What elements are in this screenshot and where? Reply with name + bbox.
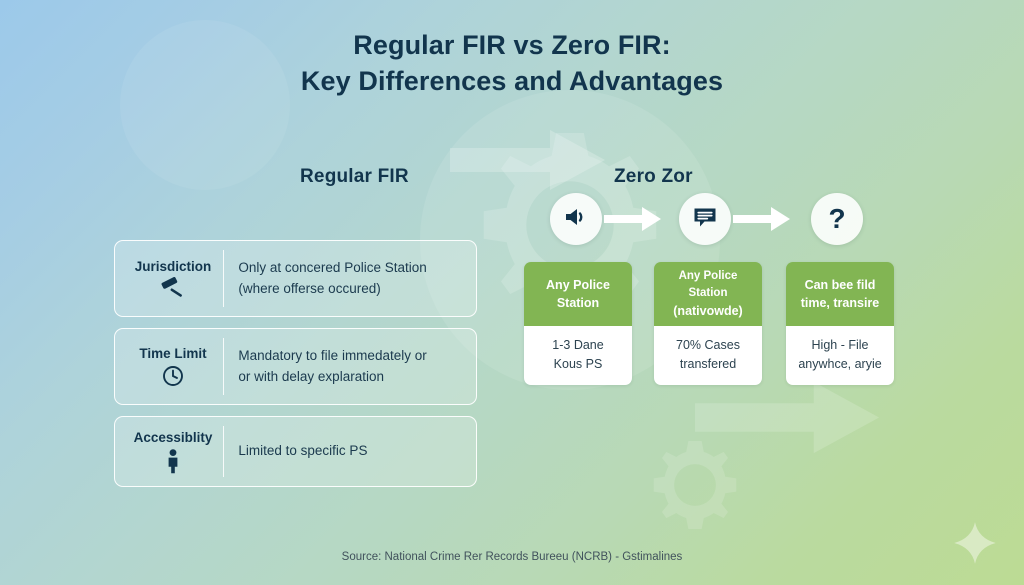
- page-title: Regular FIR vs Zero FIR: Key Differences…: [0, 28, 1024, 99]
- card-body: 70% Cases transfered: [654, 326, 762, 385]
- gear-watermark-small: [640, 430, 750, 540]
- row-description: Limited to specific PS: [224, 417, 476, 486]
- card-header-line-1: Can bee fild: [805, 276, 876, 294]
- card-body: 1-3 Dane Kous PS: [524, 326, 632, 385]
- flow-step-megaphone[interactable]: [550, 193, 602, 245]
- card-body-line-2: Kous PS: [554, 355, 603, 374]
- row-desc-line-1: Only at concered Police Station: [238, 258, 476, 279]
- card-header-line-2: Station: [557, 294, 599, 312]
- row-label: Time Limit: [139, 346, 206, 361]
- source-footnote: Source: National Crime Rer Records Buree…: [0, 551, 1024, 563]
- column-heading-zero-fir: Zero Zor: [614, 166, 693, 188]
- card-header-line-1: Any Police Station: [660, 268, 756, 301]
- comparison-row-jurisdiction[interactable]: Jurisdiction Only at concered Police Sta…: [114, 240, 477, 317]
- comparison-row-time-limit[interactable]: Time Limit Mandatory to file immedately …: [114, 328, 477, 405]
- chat-bubble-icon: [692, 205, 718, 234]
- row-label-group: Accessiblity: [115, 417, 223, 486]
- zero-fir-card-3[interactable]: Can bee fild time, transire High - File …: [786, 262, 894, 385]
- row-description: Mandatory to file immedately or or with …: [224, 329, 476, 404]
- row-label: Accessiblity: [134, 430, 213, 445]
- row-desc-line-2: (where offerse occured): [238, 279, 476, 300]
- card-body-line-1: 70% Cases: [676, 336, 740, 355]
- column-heading-regular-fir: Regular FIR: [300, 166, 409, 188]
- row-label-group: Time Limit: [115, 329, 223, 404]
- row-desc-line-1: Limited to specific PS: [238, 441, 476, 462]
- card-header: Any Police Station (nativowde): [654, 262, 762, 326]
- person-icon: [163, 448, 183, 474]
- row-label-group: Jurisdiction: [115, 241, 223, 316]
- arrow-right-icon: [604, 206, 662, 232]
- zero-fir-card-2[interactable]: Any Police Station (nativowde) 70% Cases…: [654, 262, 762, 385]
- question-mark-icon: ?: [828, 205, 845, 233]
- arrow-right-icon: [733, 206, 791, 232]
- zero-fir-card-1[interactable]: Any Police Station 1-3 Dane Kous PS: [524, 262, 632, 385]
- row-desc-line-1: Mandatory to file immedately or: [238, 346, 476, 367]
- card-header-line-2: (nativowde): [673, 302, 742, 320]
- clock-icon: [161, 364, 185, 388]
- card-header: Any Police Station: [524, 262, 632, 326]
- card-body-line-2: anywhce, aryie: [798, 355, 881, 374]
- row-description: Only at concered Police Station (where o…: [224, 241, 476, 316]
- arrow-watermark-1: [450, 120, 610, 200]
- title-line-2: Key Differences and Advantages: [0, 64, 1024, 100]
- megaphone-icon: [563, 206, 589, 233]
- comparison-row-accessibility[interactable]: Accessiblity Limited to specific PS: [114, 416, 477, 487]
- card-header: Can bee fild time, transire: [786, 262, 894, 326]
- infographic-canvas: Regular FIR vs Zero FIR: Key Differences…: [0, 0, 1024, 585]
- card-header-line-1: Any Police: [546, 276, 610, 294]
- card-header-line-2: time, transire: [801, 294, 880, 312]
- card-body-line-1: High - File: [812, 336, 869, 355]
- row-label: Jurisdiction: [135, 259, 212, 274]
- title-line-1: Regular FIR vs Zero FIR:: [353, 30, 670, 60]
- card-body-line-2: transfered: [680, 355, 736, 374]
- card-body: High - File anywhce, aryie: [786, 326, 894, 385]
- row-desc-line-2: or with delay explaration: [238, 367, 476, 388]
- gavel-icon: [158, 277, 188, 299]
- flow-step-question[interactable]: ?: [811, 193, 863, 245]
- flow-step-chat[interactable]: [679, 193, 731, 245]
- card-body-line-1: 1-3 Dane: [552, 336, 603, 355]
